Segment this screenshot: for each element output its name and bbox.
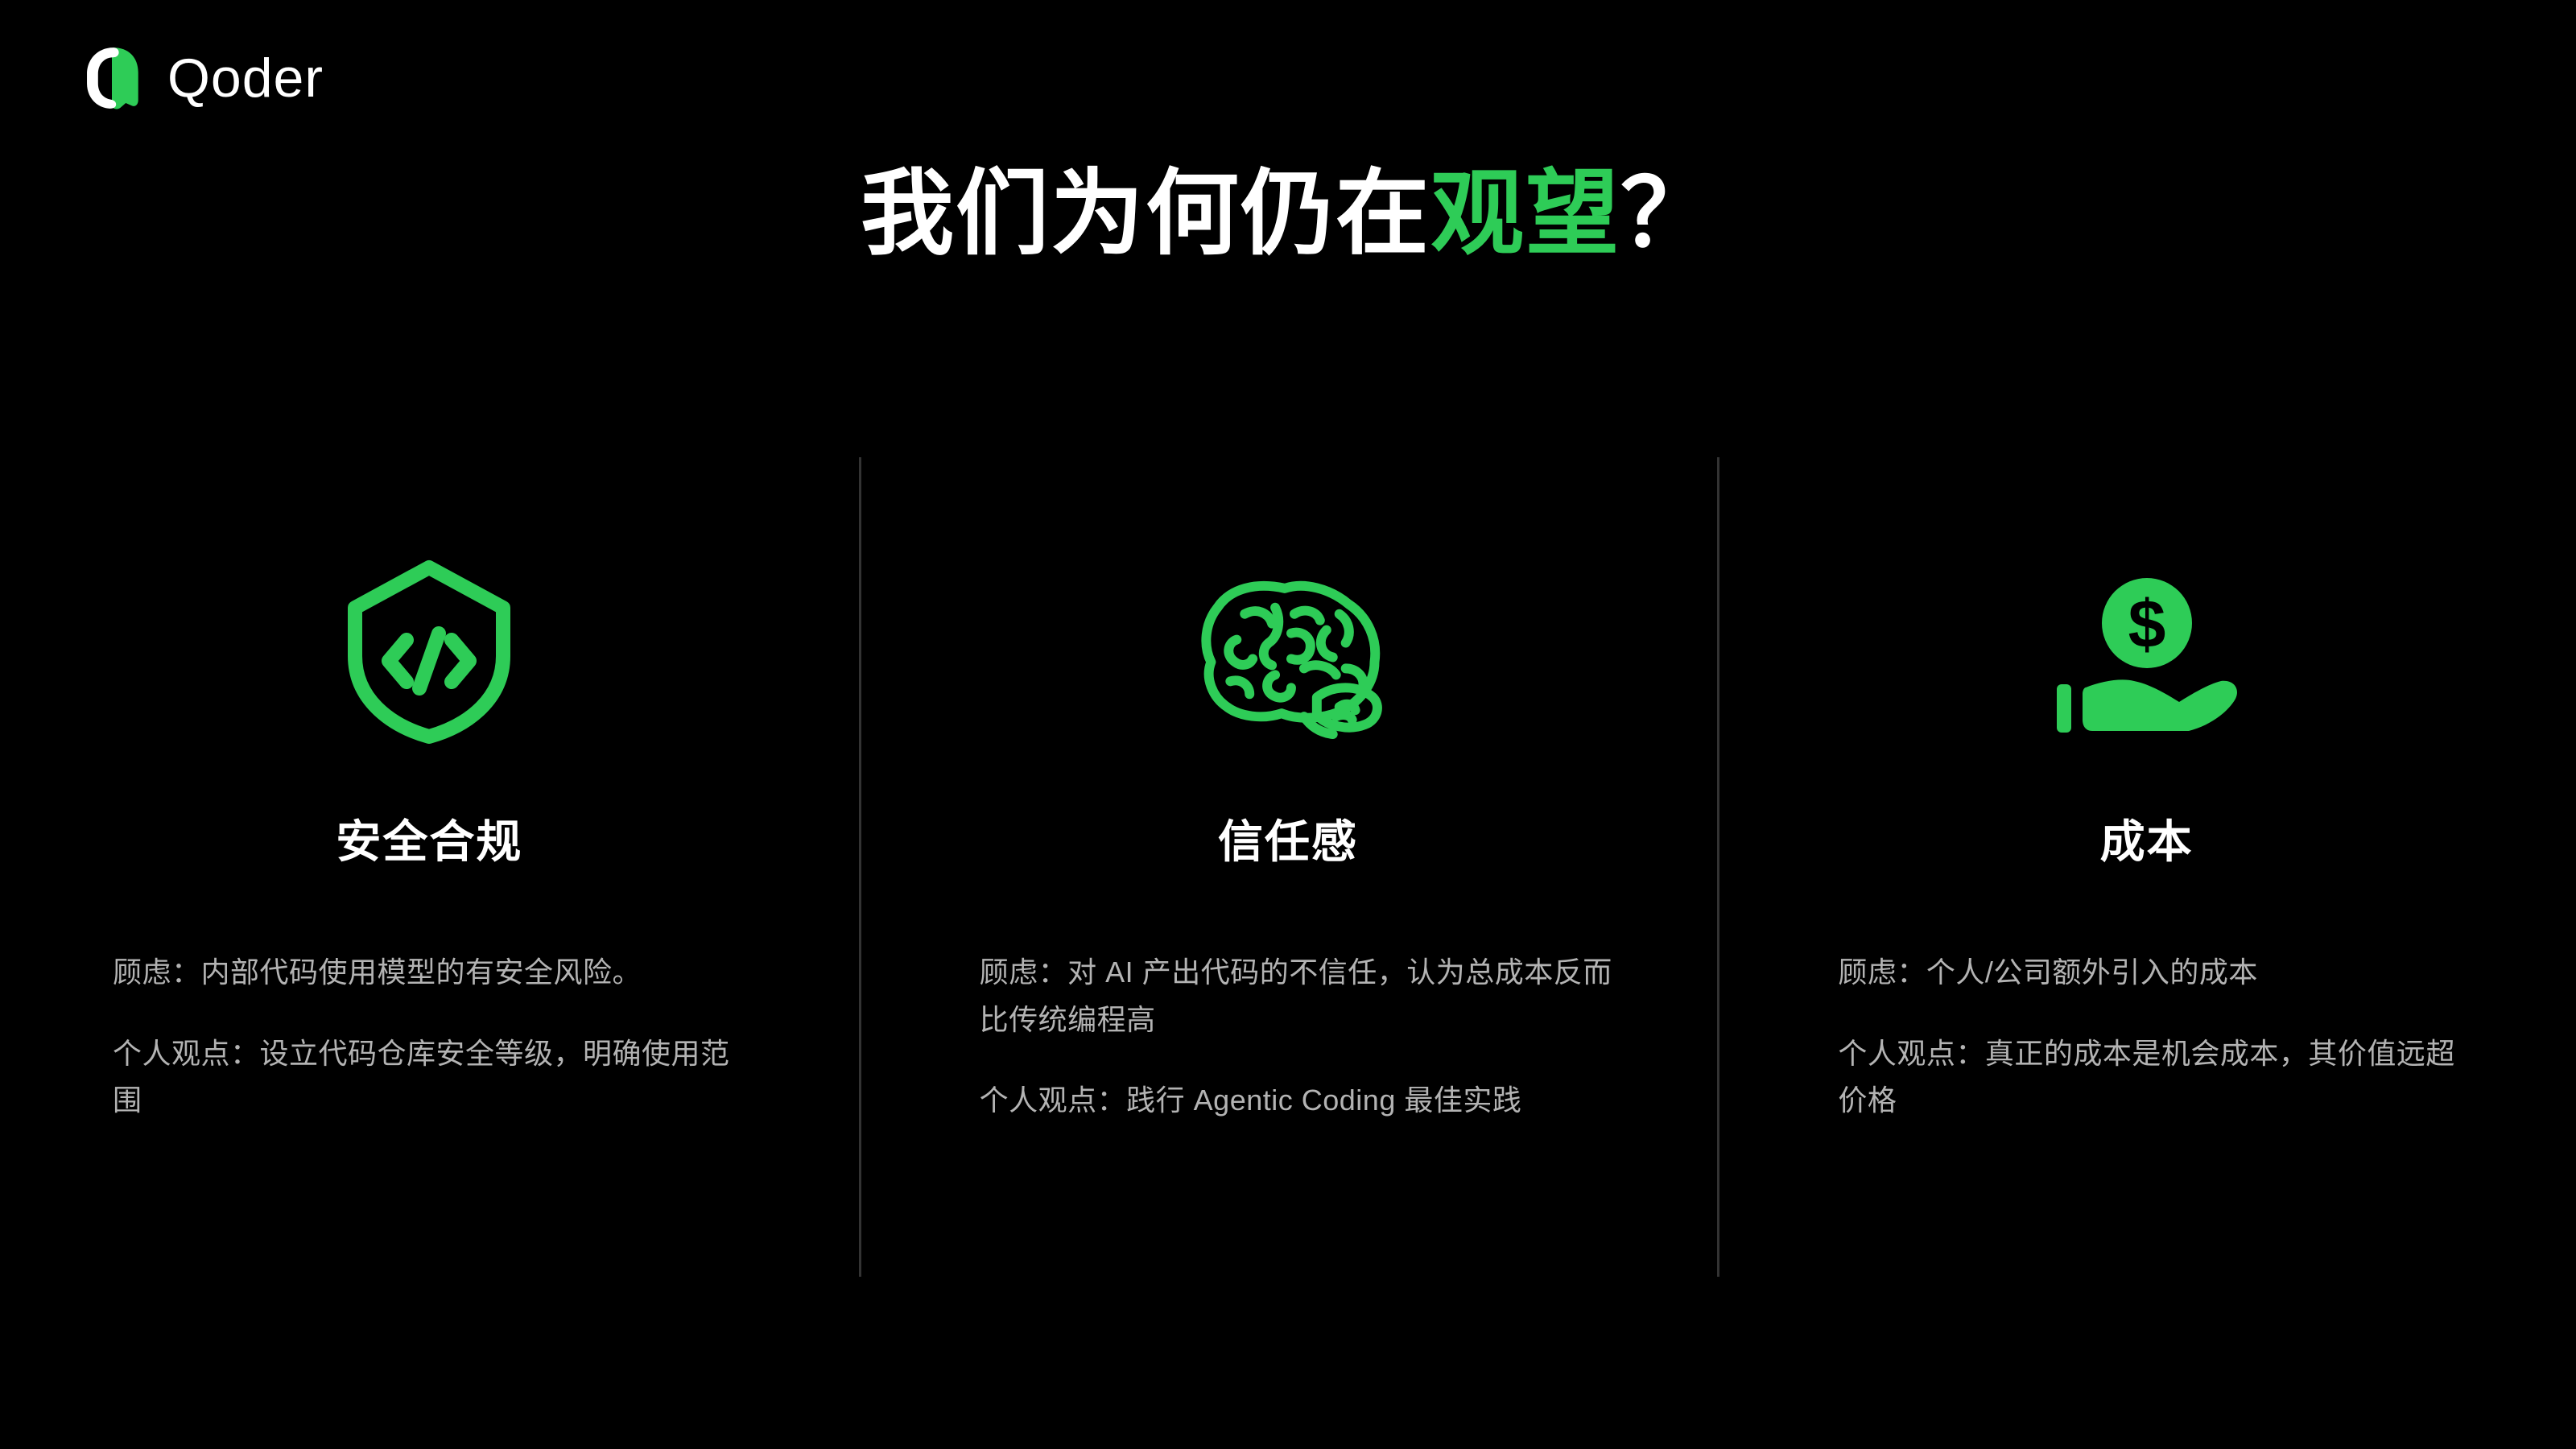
column-opinion: 个人观点：践行 Agentic Coding 最佳实践: [980, 1077, 1613, 1124]
column-cost: $ 成本 顾虑：个人/公司额外引入的成本 个人观点：真正的成本是机会成本，其价值…: [1717, 419, 2576, 1280]
svg-text:$: $: [2128, 586, 2165, 662]
qoder-logo-icon: [77, 43, 147, 113]
column-opinion: 个人观点：设立代码仓库安全等级，明确使用范围: [113, 1030, 746, 1125]
slide-root: Qoder 我们为何仍在观望？ 安全合规 顾虑：内部代码使用模型的有安全风险。 …: [0, 0, 2576, 1449]
column-body: 顾虑：对 AI 产出代码的不信任，认为总成本反而比传统编程高 个人观点：践行 A…: [859, 949, 1718, 1124]
hand-holding-dollar-icon: $: [2050, 531, 2244, 773]
page-title: 我们为何仍在观望？: [0, 158, 2576, 270]
column-concern: 顾虑：个人/公司额外引入的成本: [1838, 949, 2471, 996]
column-security: 安全合规 顾虑：内部代码使用模型的有安全风险。 个人观点：设立代码仓库安全等级，…: [0, 419, 859, 1280]
column-opinion: 个人观点：真正的成本是机会成本，其价值远超价格: [1838, 1030, 2471, 1125]
brand-wordmark: Qoder: [167, 51, 324, 105]
column-heading: 成本: [2100, 815, 2194, 869]
column-heading: 安全合规: [336, 815, 522, 869]
column-concern: 顾虑：内部代码使用模型的有安全风险。: [113, 949, 746, 996]
columns-container: 安全合规 顾虑：内部代码使用模型的有安全风险。 个人观点：设立代码仓库安全等级，…: [0, 419, 2576, 1280]
page-title-accent: 观望: [1430, 161, 1620, 266]
page-title-lead: 我们为何仍在: [861, 161, 1430, 266]
column-concern: 顾虑：对 AI 产出代码的不信任，认为总成本反而比传统编程高: [980, 949, 1613, 1043]
brand-logo: Qoder: [77, 43, 324, 113]
page-title-trail: ？: [1620, 161, 1715, 266]
shield-code-icon: [341, 531, 518, 773]
column-trust: 信任感 顾虑：对 AI 产出代码的不信任，认为总成本反而比传统编程高 个人观点：…: [859, 419, 1718, 1280]
column-body: 顾虑：个人/公司额外引入的成本 个人观点：真正的成本是机会成本，其价值远超价格: [1717, 949, 2576, 1124]
brain-icon: [1191, 531, 1385, 773]
column-heading: 信任感: [1218, 815, 1358, 869]
column-body: 顾虑：内部代码使用模型的有安全风险。 个人观点：设立代码仓库安全等级，明确使用范…: [0, 949, 859, 1124]
